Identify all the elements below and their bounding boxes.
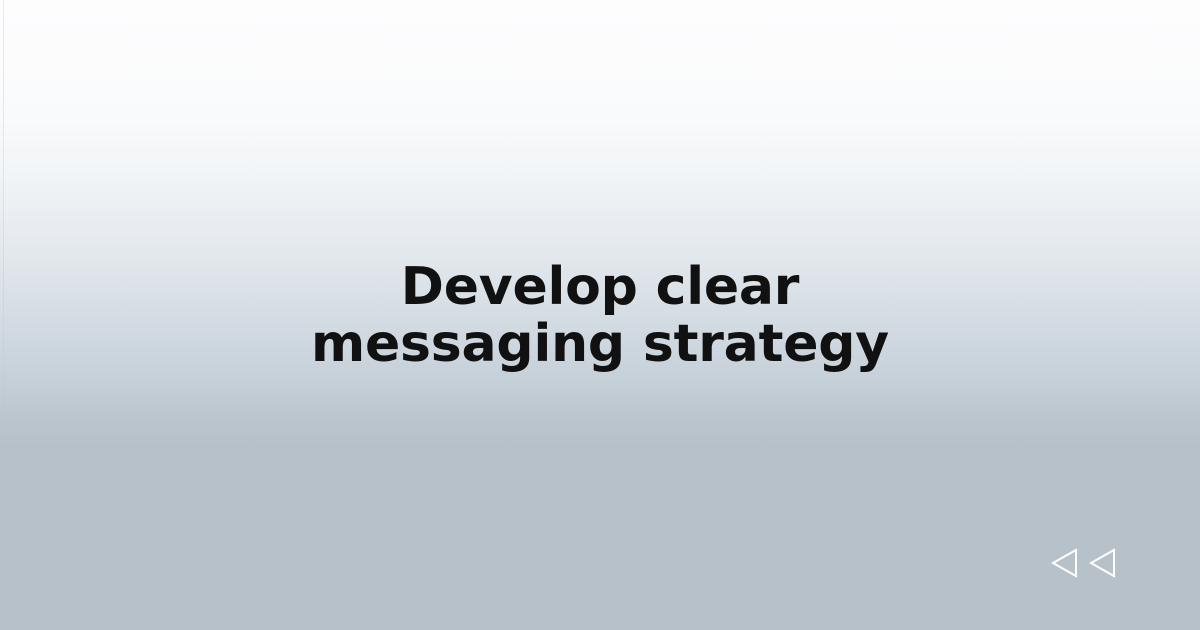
slide-canvas: Develop clear messaging strategy bbox=[0, 0, 1200, 630]
heading-container: Develop clear messaging strategy bbox=[0, 0, 1200, 630]
triangle-left-icon bbox=[1049, 547, 1079, 579]
rewind-button[interactable] bbox=[1049, 541, 1133, 585]
triangle-left-icon bbox=[1087, 547, 1117, 579]
slide-heading: Develop clear messaging strategy bbox=[280, 259, 920, 373]
